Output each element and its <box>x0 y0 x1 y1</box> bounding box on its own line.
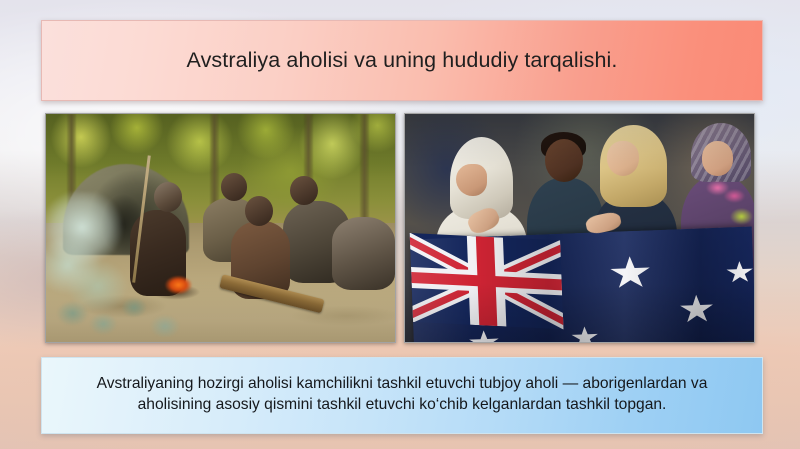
photo-multicultural-youth-with-flag <box>404 113 755 343</box>
photo-aborigines-campfire <box>45 113 396 343</box>
photo-vignette <box>405 114 754 342</box>
slide-image-row <box>45 113 756 343</box>
slide-title-banner: Avstraliya aholisi va uning hududiy tarq… <box>41 20 763 101</box>
slide-caption-box: Avstraliyaning hozirgi aholisi kamchilik… <box>41 357 763 434</box>
slide-caption: Avstraliyaning hozirgi aholisi kamchilik… <box>60 374 744 415</box>
photo-vignette <box>46 114 395 342</box>
slide-title: Avstraliya aholisi va uning hududiy tarq… <box>187 48 618 74</box>
presentation-slide: Avstraliya aholisi va uning hududiy tarq… <box>0 0 800 449</box>
